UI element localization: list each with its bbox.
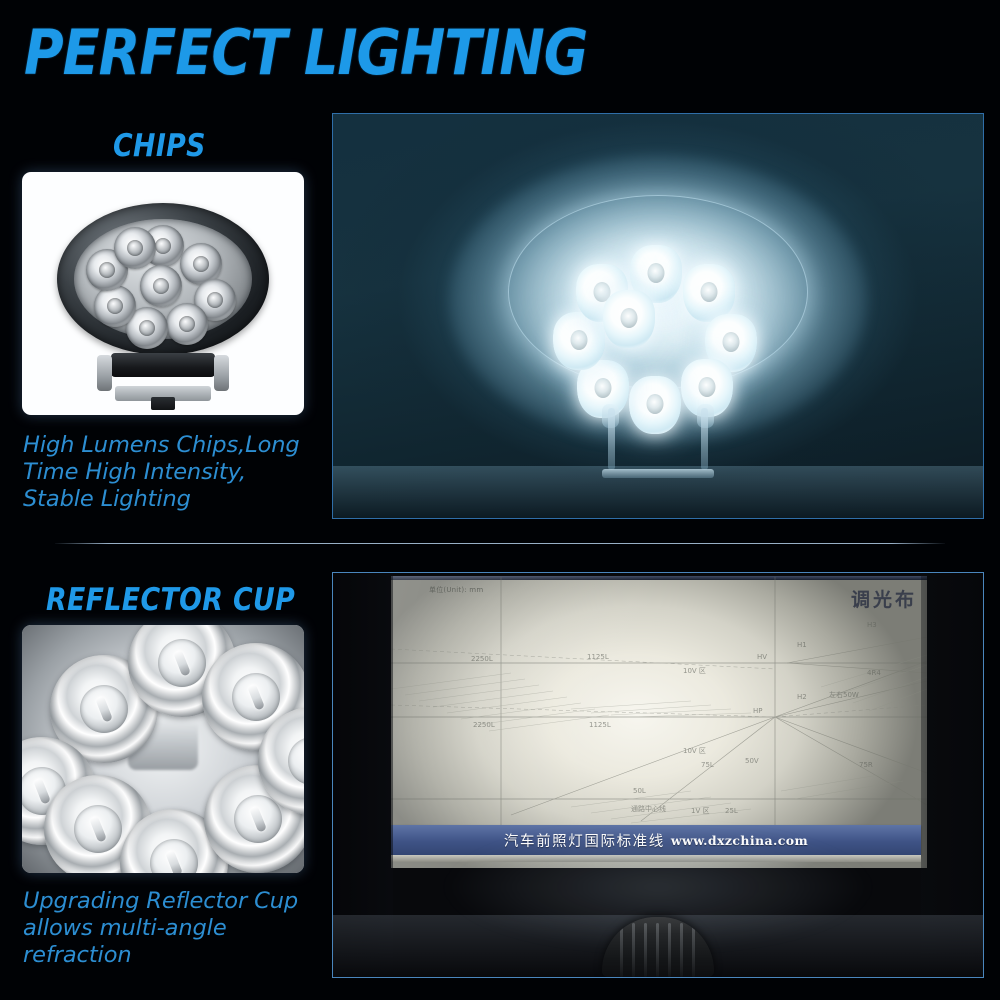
beam-floor bbox=[333, 466, 983, 518]
lamp-lens bbox=[74, 219, 252, 339]
led-chip-center bbox=[140, 265, 182, 307]
beam-pattern-chart: 2250L 1125L 10V 区 HV H1 2250L 1125L HP H… bbox=[391, 577, 927, 825]
svg-text:1V 区: 1V 区 bbox=[691, 807, 709, 815]
bracket-arm-right bbox=[701, 408, 708, 470]
svg-text:左右50W: 左右50W bbox=[829, 690, 859, 699]
svg-text:通路中心线: 通路中心线 bbox=[631, 804, 666, 813]
unit-label: 单位(Unit): mm bbox=[429, 585, 483, 595]
svg-text:50L: 50L bbox=[633, 787, 646, 795]
svg-text:25L: 25L bbox=[725, 807, 738, 815]
svg-text:2250L: 2250L bbox=[471, 655, 493, 663]
bracket-bolt bbox=[151, 397, 175, 410]
led-chip bbox=[94, 285, 136, 327]
dimming-cloth-label: 调光布 bbox=[851, 585, 917, 612]
svg-text:HV: HV bbox=[757, 653, 767, 661]
poster-root: PERFECT LIGHTING CHIPS bbox=[0, 0, 1000, 1000]
beam-led-center bbox=[603, 290, 655, 348]
svg-text:HP: HP bbox=[753, 707, 763, 715]
section-heading-reflector-cup: REFLECTOR CUP bbox=[46, 582, 295, 618]
caption-chips: High Lumens Chips,Long Time High Intensi… bbox=[23, 432, 323, 513]
mounting-bracket bbox=[97, 353, 229, 401]
section-heading-chips: CHIPS bbox=[113, 128, 206, 164]
lamp-housing bbox=[57, 203, 269, 355]
led-chip bbox=[166, 303, 208, 345]
svg-text:75L: 75L bbox=[701, 761, 714, 769]
svg-text:1125L: 1125L bbox=[589, 721, 611, 729]
svg-text:1125L: 1125L bbox=[587, 653, 609, 661]
svg-text:10V 区: 10V 区 bbox=[683, 667, 706, 675]
bracket-arm-right bbox=[214, 355, 229, 391]
beam-photo bbox=[332, 113, 984, 519]
led-chip bbox=[114, 227, 156, 269]
svg-text:H1: H1 bbox=[797, 641, 807, 649]
svg-text:10V 区: 10V 区 bbox=[683, 747, 706, 755]
reflector-cup-photo bbox=[22, 625, 304, 873]
svg-text:H3: H3 bbox=[867, 621, 877, 629]
bracket-arm-left bbox=[608, 408, 615, 470]
caption-reflector-cup: Upgrading Reflector Cup allows multi-ang… bbox=[23, 888, 323, 969]
svg-text:50V: 50V bbox=[745, 757, 759, 765]
svg-text:75R: 75R bbox=[859, 761, 873, 769]
svg-text:4R4: 4R4 bbox=[867, 669, 881, 677]
svg-text:H2: H2 bbox=[797, 693, 807, 701]
bracket-arm-left bbox=[97, 355, 112, 391]
chips-product-photo bbox=[22, 172, 304, 415]
svg-text:2250L: 2250L bbox=[473, 721, 495, 729]
bracket-block bbox=[111, 353, 215, 377]
page-title: PERFECT LIGHTING bbox=[24, 22, 587, 84]
section-divider bbox=[55, 543, 945, 544]
beam-pattern-photo: 2250L 1125L 10V 区 HV H1 2250L 1125L HP H… bbox=[332, 572, 984, 978]
